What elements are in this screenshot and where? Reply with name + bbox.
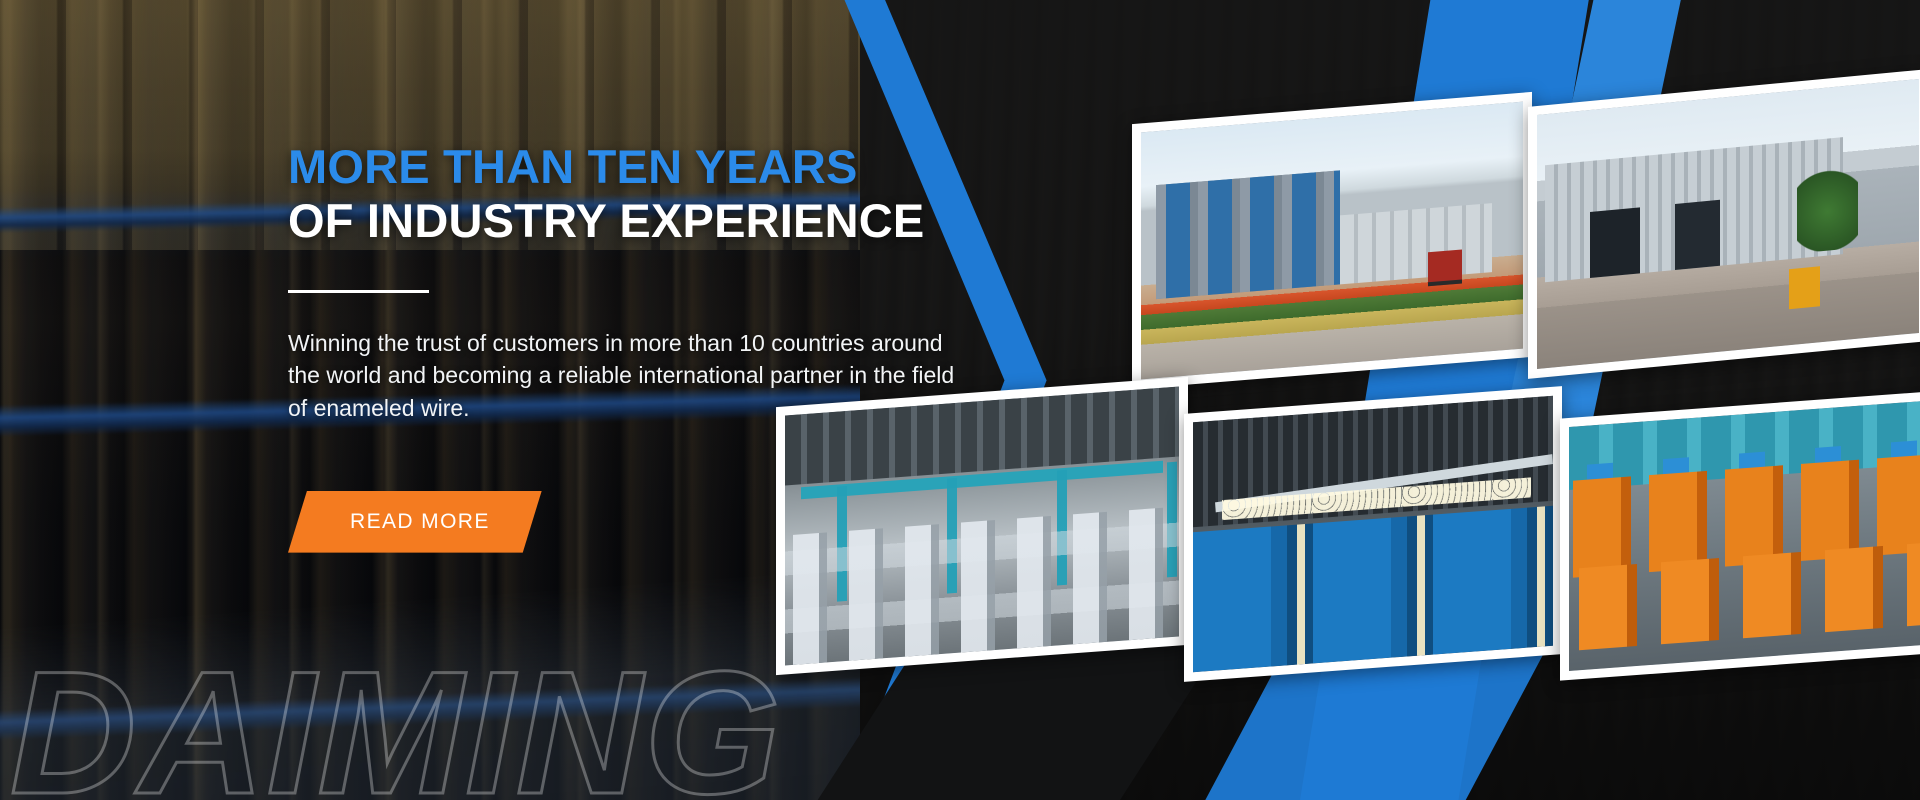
drawing-machines: [1193, 506, 1553, 672]
headline-divider: [288, 290, 429, 293]
hero-text-block: MORE THAN TEN YEARS OF INDUSTRY EXPERIEN…: [288, 142, 978, 553]
headline-secondary: OF INDUSTRY EXPERIENCE: [288, 196, 978, 246]
delivery-truck: [1428, 250, 1462, 286]
warehouse-exterior-image: [1537, 79, 1919, 369]
gallery-photo-office-building[interactable]: [1132, 92, 1532, 389]
hero-paragraph: Winning the trust of customers in more t…: [288, 327, 968, 425]
gallery-photo-warehouse-exterior[interactable]: [1528, 69, 1920, 379]
office-side-building: [1340, 203, 1493, 284]
hero-banner: MORE THAN TEN YEARS OF INDUSTRY EXPERIEN…: [0, 0, 1920, 800]
office-building-image: [1141, 102, 1523, 380]
read-more-button[interactable]: READ MORE: [288, 491, 542, 553]
warehouse-door-1: [1590, 207, 1640, 278]
warehouse-tree: [1797, 161, 1858, 253]
gallery-photo-copper-spool-rack[interactable]: [1560, 389, 1920, 680]
drawing-machines-image: [1193, 396, 1553, 672]
headline-primary: MORE THAN TEN YEARS: [288, 142, 978, 192]
warehouse-door-2: [1675, 199, 1721, 269]
copper-spool-rack-image: [1569, 399, 1920, 671]
office-building-facade: [1156, 171, 1339, 299]
gallery-photo-drawing-machines[interactable]: [1184, 386, 1562, 682]
forklift: [1789, 266, 1820, 310]
